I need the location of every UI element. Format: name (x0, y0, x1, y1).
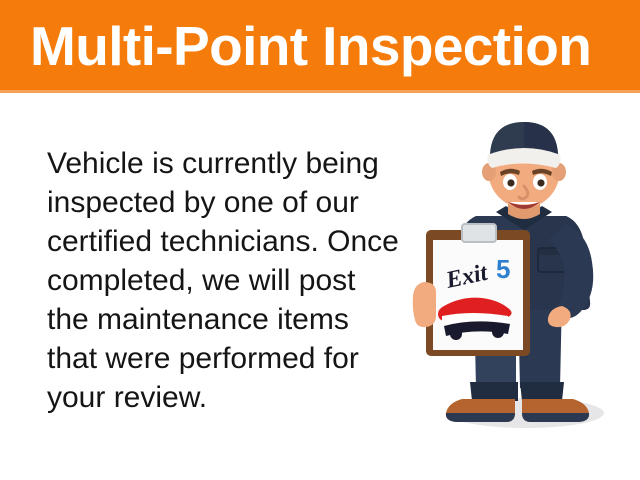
left-shoe-sole-icon (446, 413, 515, 422)
left-hand-icon (413, 282, 436, 327)
slide-canvas: Multi-Point Inspection Vehicle is curren… (0, 0, 640, 480)
page-title: Multi-Point Inspection (30, 8, 630, 84)
left-cuff-icon (470, 382, 518, 401)
clipboard-logo-number: 5 (496, 254, 510, 284)
clipboard-clip (462, 224, 496, 242)
header-underline (0, 90, 640, 93)
right-pupil-icon (537, 179, 544, 186)
race-car-wheel-left-icon (450, 328, 462, 340)
body-paragraph: Vehicle is currently being inspected by … (47, 144, 399, 417)
left-pupil-icon (507, 179, 514, 186)
clipboard-icon: Exit 5 (426, 224, 530, 356)
race-car-wheel-right-icon (492, 326, 504, 338)
technician-illustration: Exit 5 (404, 120, 640, 430)
right-shoe-sole-icon (522, 413, 589, 422)
right-cuff-icon (520, 382, 564, 401)
